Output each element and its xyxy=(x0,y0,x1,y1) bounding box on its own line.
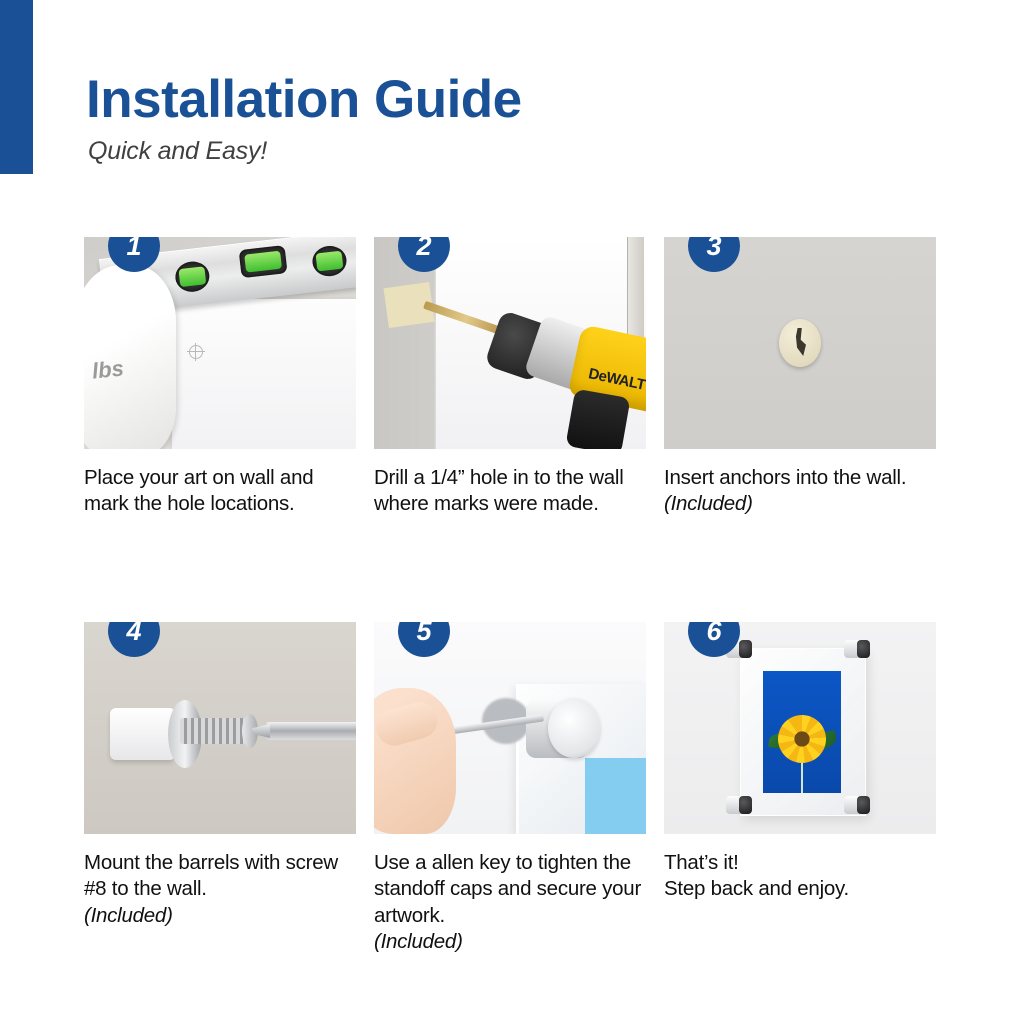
standoff-top-right xyxy=(844,640,870,658)
wall-anchor-illustration xyxy=(779,319,821,367)
step-badge-4: 4 xyxy=(108,622,160,657)
step-note-3: (Included) xyxy=(664,492,753,515)
level-vial-right xyxy=(311,244,348,278)
header-accent-bar xyxy=(0,0,33,174)
acrylic-frame-illustration xyxy=(740,648,866,816)
step-caption-1: Place your art on wall and mark the hole… xyxy=(84,465,352,518)
step-caption-5: Use a allen key to tighten the standoff … xyxy=(374,850,642,956)
step-caption-text-6: That’s it! Step back and enjoy. xyxy=(664,851,849,900)
step-caption-text-1: Place your art on wall and mark the hole… xyxy=(84,466,313,515)
finger-illustration xyxy=(374,698,442,750)
glove-logo: lbs xyxy=(91,355,125,384)
standoff-bottom-right xyxy=(844,796,870,814)
step-caption-6: That’s it! Step back and enjoy. xyxy=(664,850,932,903)
step-card-3: 3 Insert anchors into the wall. (Include… xyxy=(664,237,936,622)
step-badge-5: 5 xyxy=(398,622,450,657)
step-card-2: DeWALT 2 Drill a 1/4” hole in to the wal… xyxy=(374,237,646,622)
standoff-bottom-left xyxy=(726,796,752,814)
level-vial-center xyxy=(239,245,288,278)
level-vial-left xyxy=(174,260,211,294)
step-image-3: 3 xyxy=(664,237,936,449)
step-card-5: 5 Use a allen key to tighten the standof… xyxy=(374,622,646,1007)
sunflower-head xyxy=(778,715,826,763)
step-card-4: 4 Mount the barrels with screw #8 to the… xyxy=(84,622,356,1007)
page-subtitle: Quick and Easy! xyxy=(88,137,786,166)
step-image-4: 4 xyxy=(84,622,356,834)
step-note-5: (Included) xyxy=(374,929,642,955)
hand-illustration xyxy=(374,688,456,834)
step-image-5: 5 xyxy=(374,622,646,834)
step-caption-2: Drill a 1/4” hole in to the wall where m… xyxy=(374,465,642,518)
step-caption-text-2: Drill a 1/4” hole in to the wall where m… xyxy=(374,466,624,515)
hole-mark-icon xyxy=(189,345,203,359)
sunflower-photo-illustration xyxy=(763,671,841,793)
step-image-2: DeWALT 2 xyxy=(374,237,646,449)
drill-grip-illustration xyxy=(565,389,630,449)
screwdriver-illustration xyxy=(266,722,356,740)
step-image-6: 6 xyxy=(664,622,936,834)
step-caption-text-5: Use a allen key to tighten the standoff … xyxy=(374,851,641,927)
steps-grid: lbs 1 Place your art on wall and mark th… xyxy=(84,237,956,1007)
standoff-barrel-illustration xyxy=(110,708,174,760)
header: Installation Guide Quick and Easy! xyxy=(86,72,786,166)
step-caption-3: Insert anchors into the wall. (Included) xyxy=(664,465,932,518)
step-caption-text-4: Mount the barrels with screw #8 to the w… xyxy=(84,851,338,900)
step-note-4: (Included) xyxy=(84,903,352,929)
step-badge-3: 3 xyxy=(688,237,740,272)
art-panel-illustration xyxy=(172,299,356,449)
step-card-6: 6 That’s it! Step back and enjoy. xyxy=(664,622,936,1007)
blue-artwork-patch xyxy=(585,758,646,834)
step-caption-4: Mount the barrels with screw #8 to the w… xyxy=(84,850,352,929)
page-title: Installation Guide xyxy=(86,72,786,128)
standoff-cap-face xyxy=(548,698,600,758)
step-caption-text-3: Insert anchors into the wall. xyxy=(664,466,906,489)
step-image-1: lbs 1 xyxy=(84,237,356,449)
step-card-1: lbs 1 Place your art on wall and mark th… xyxy=(84,237,356,622)
